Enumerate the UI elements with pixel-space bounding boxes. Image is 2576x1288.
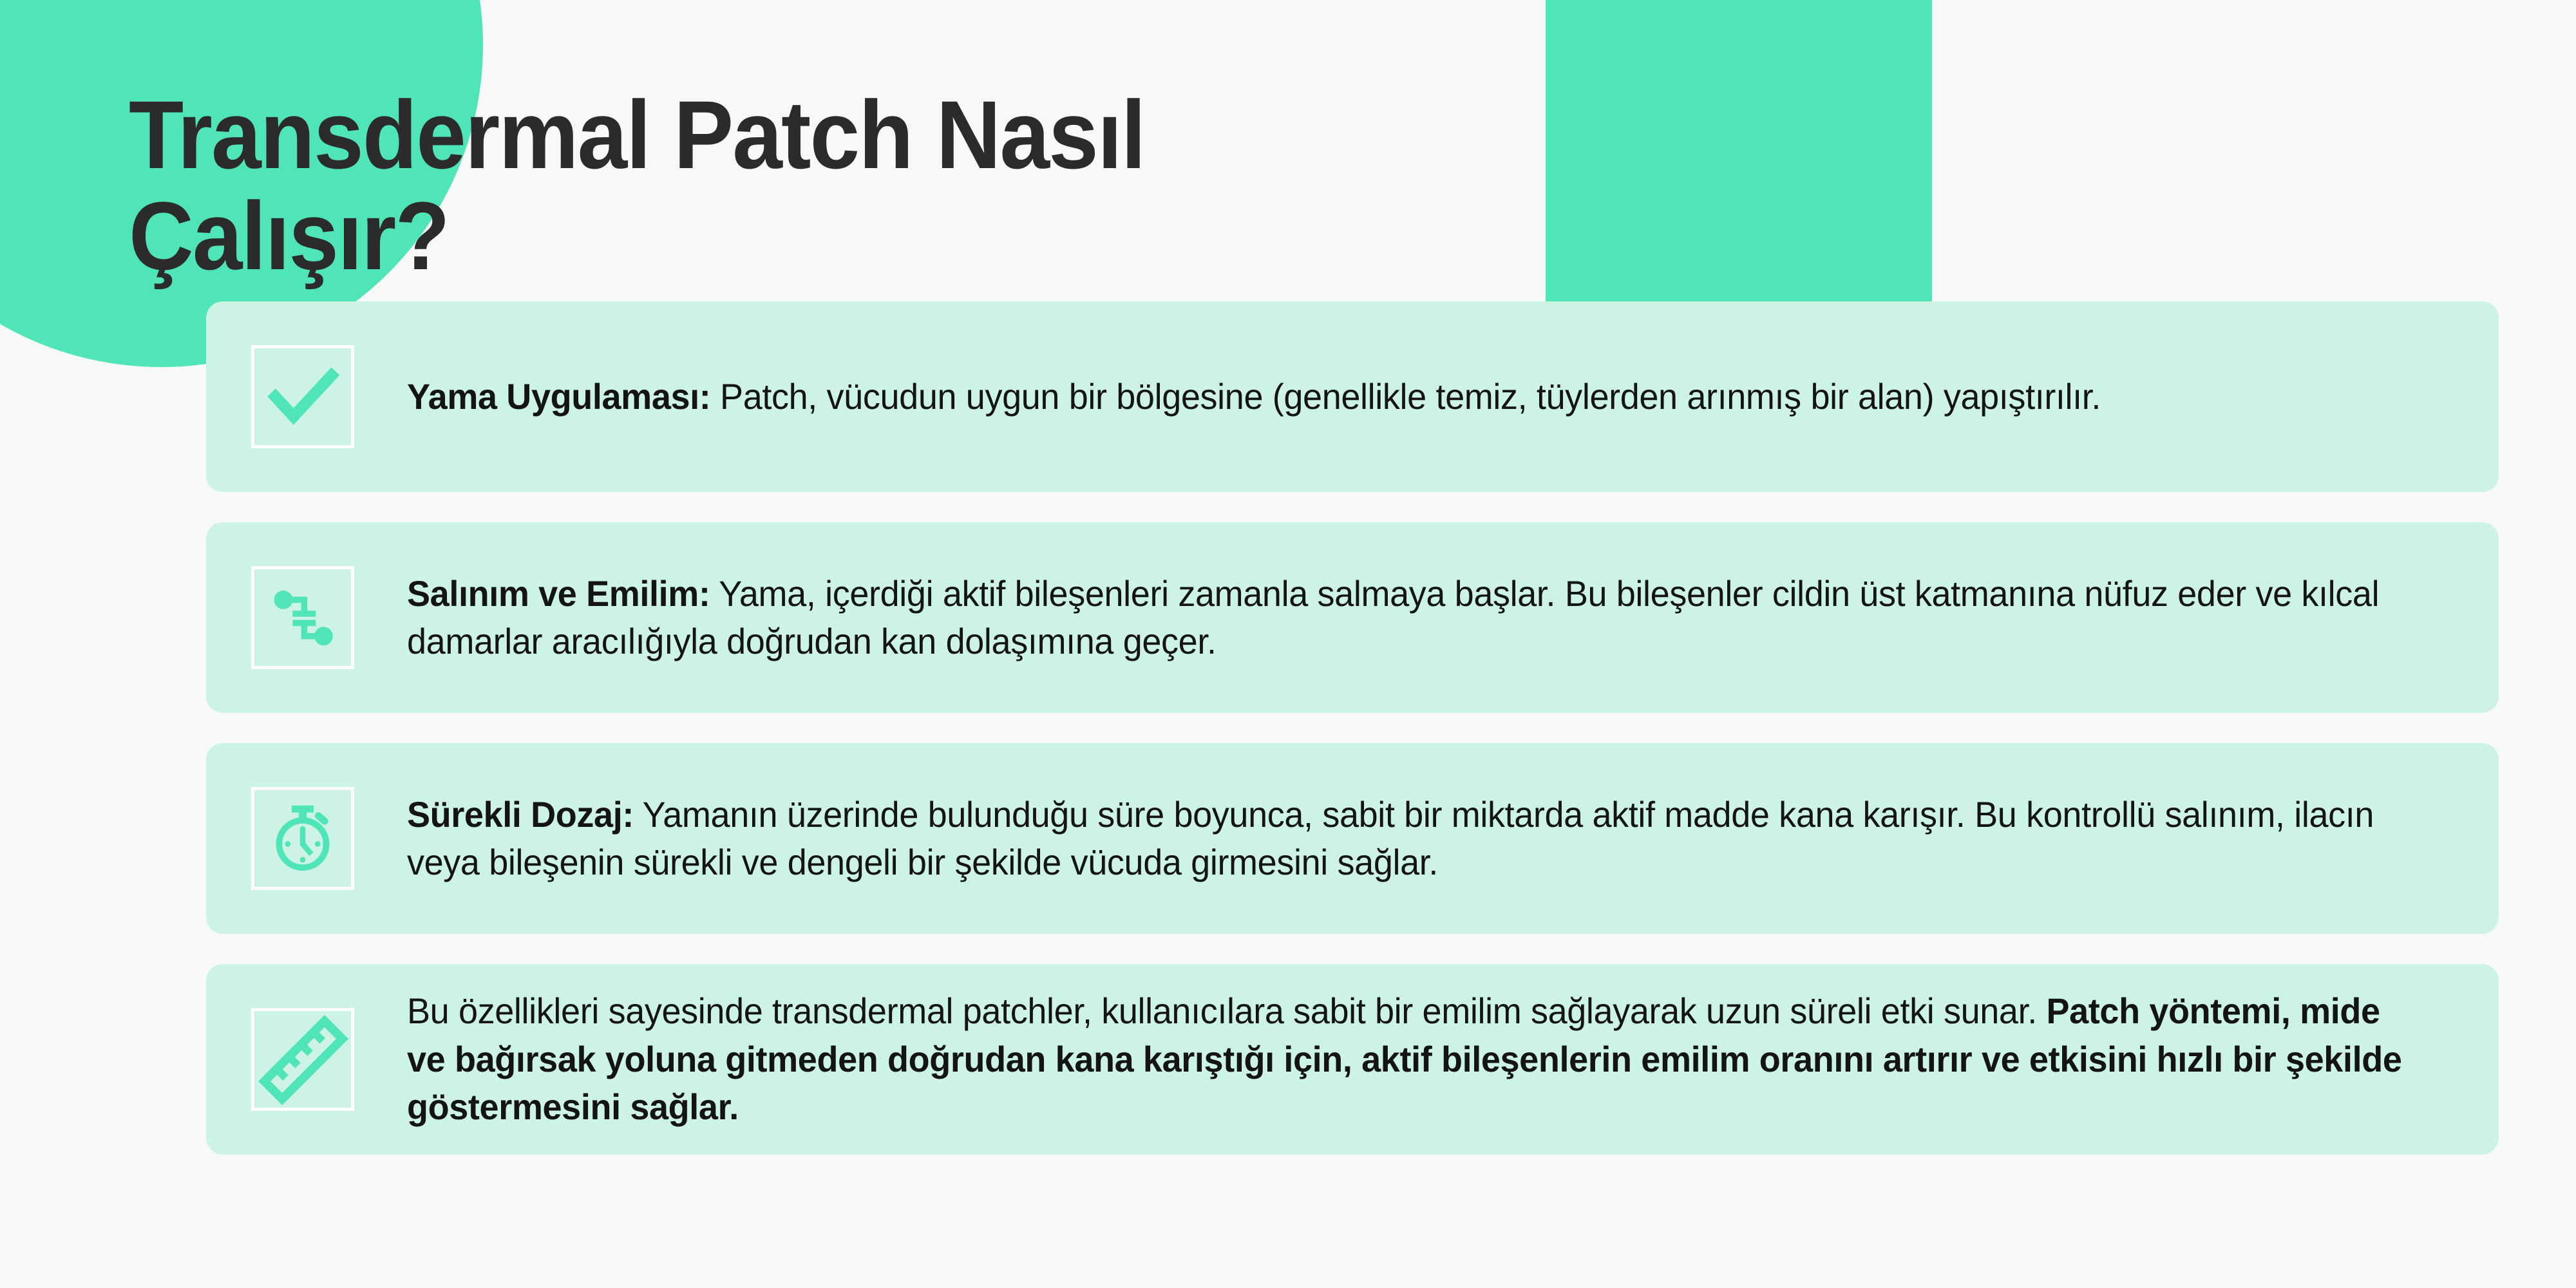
circuit-capacitor-icon [251,566,354,669]
list-item: Salınım ve Emilim: Yama, içerdiği aktif … [206,522,2499,713]
page-title: Transdermal Patch Nasıl Çalışır? [129,84,1746,287]
ruler-icon [251,1008,354,1111]
check-icon [251,345,354,448]
list-item: Sürekli Dozaj: Yamanın üzerinde bulunduğ… [206,743,2499,934]
list-item: Yama Uygulaması: Patch, vücudun uygun bi… [206,301,2499,492]
card-lead-label: Salınım ve Emilim: [407,573,710,614]
card-body-text: Yama Uygulaması: Patch, vücudun uygun bi… [407,373,2403,421]
card-lead-label: Yama Uygulaması: [407,376,710,417]
card-body-text: Sürekli Dozaj: Yamanın üzerinde bulunduğ… [407,791,2403,887]
card-description: Bu özellikleri sayesinde transdermal pat… [407,990,2046,1031]
card-lead-label: Sürekli Dozaj: [407,794,634,835]
card-body-text: Bu özellikleri sayesinde transdermal pat… [407,987,2403,1131]
infographic-canvas: Transdermal Patch Nasıl Çalışır? Yama Uy… [0,0,2576,1288]
card-description: Patch, vücudun uygun bir bölgesine (gene… [710,376,2101,417]
list-item: Bu özellikleri sayesinde transdermal pat… [206,964,2499,1155]
stopwatch-icon [251,787,354,890]
card-description: Yamanın üzerinde bulunduğu süre boyunca,… [407,794,2374,882]
card-list: Yama Uygulaması: Patch, vücudun uygun bi… [206,301,2499,1185]
card-body-text: Salınım ve Emilim: Yama, içerdiği aktif … [407,570,2403,666]
